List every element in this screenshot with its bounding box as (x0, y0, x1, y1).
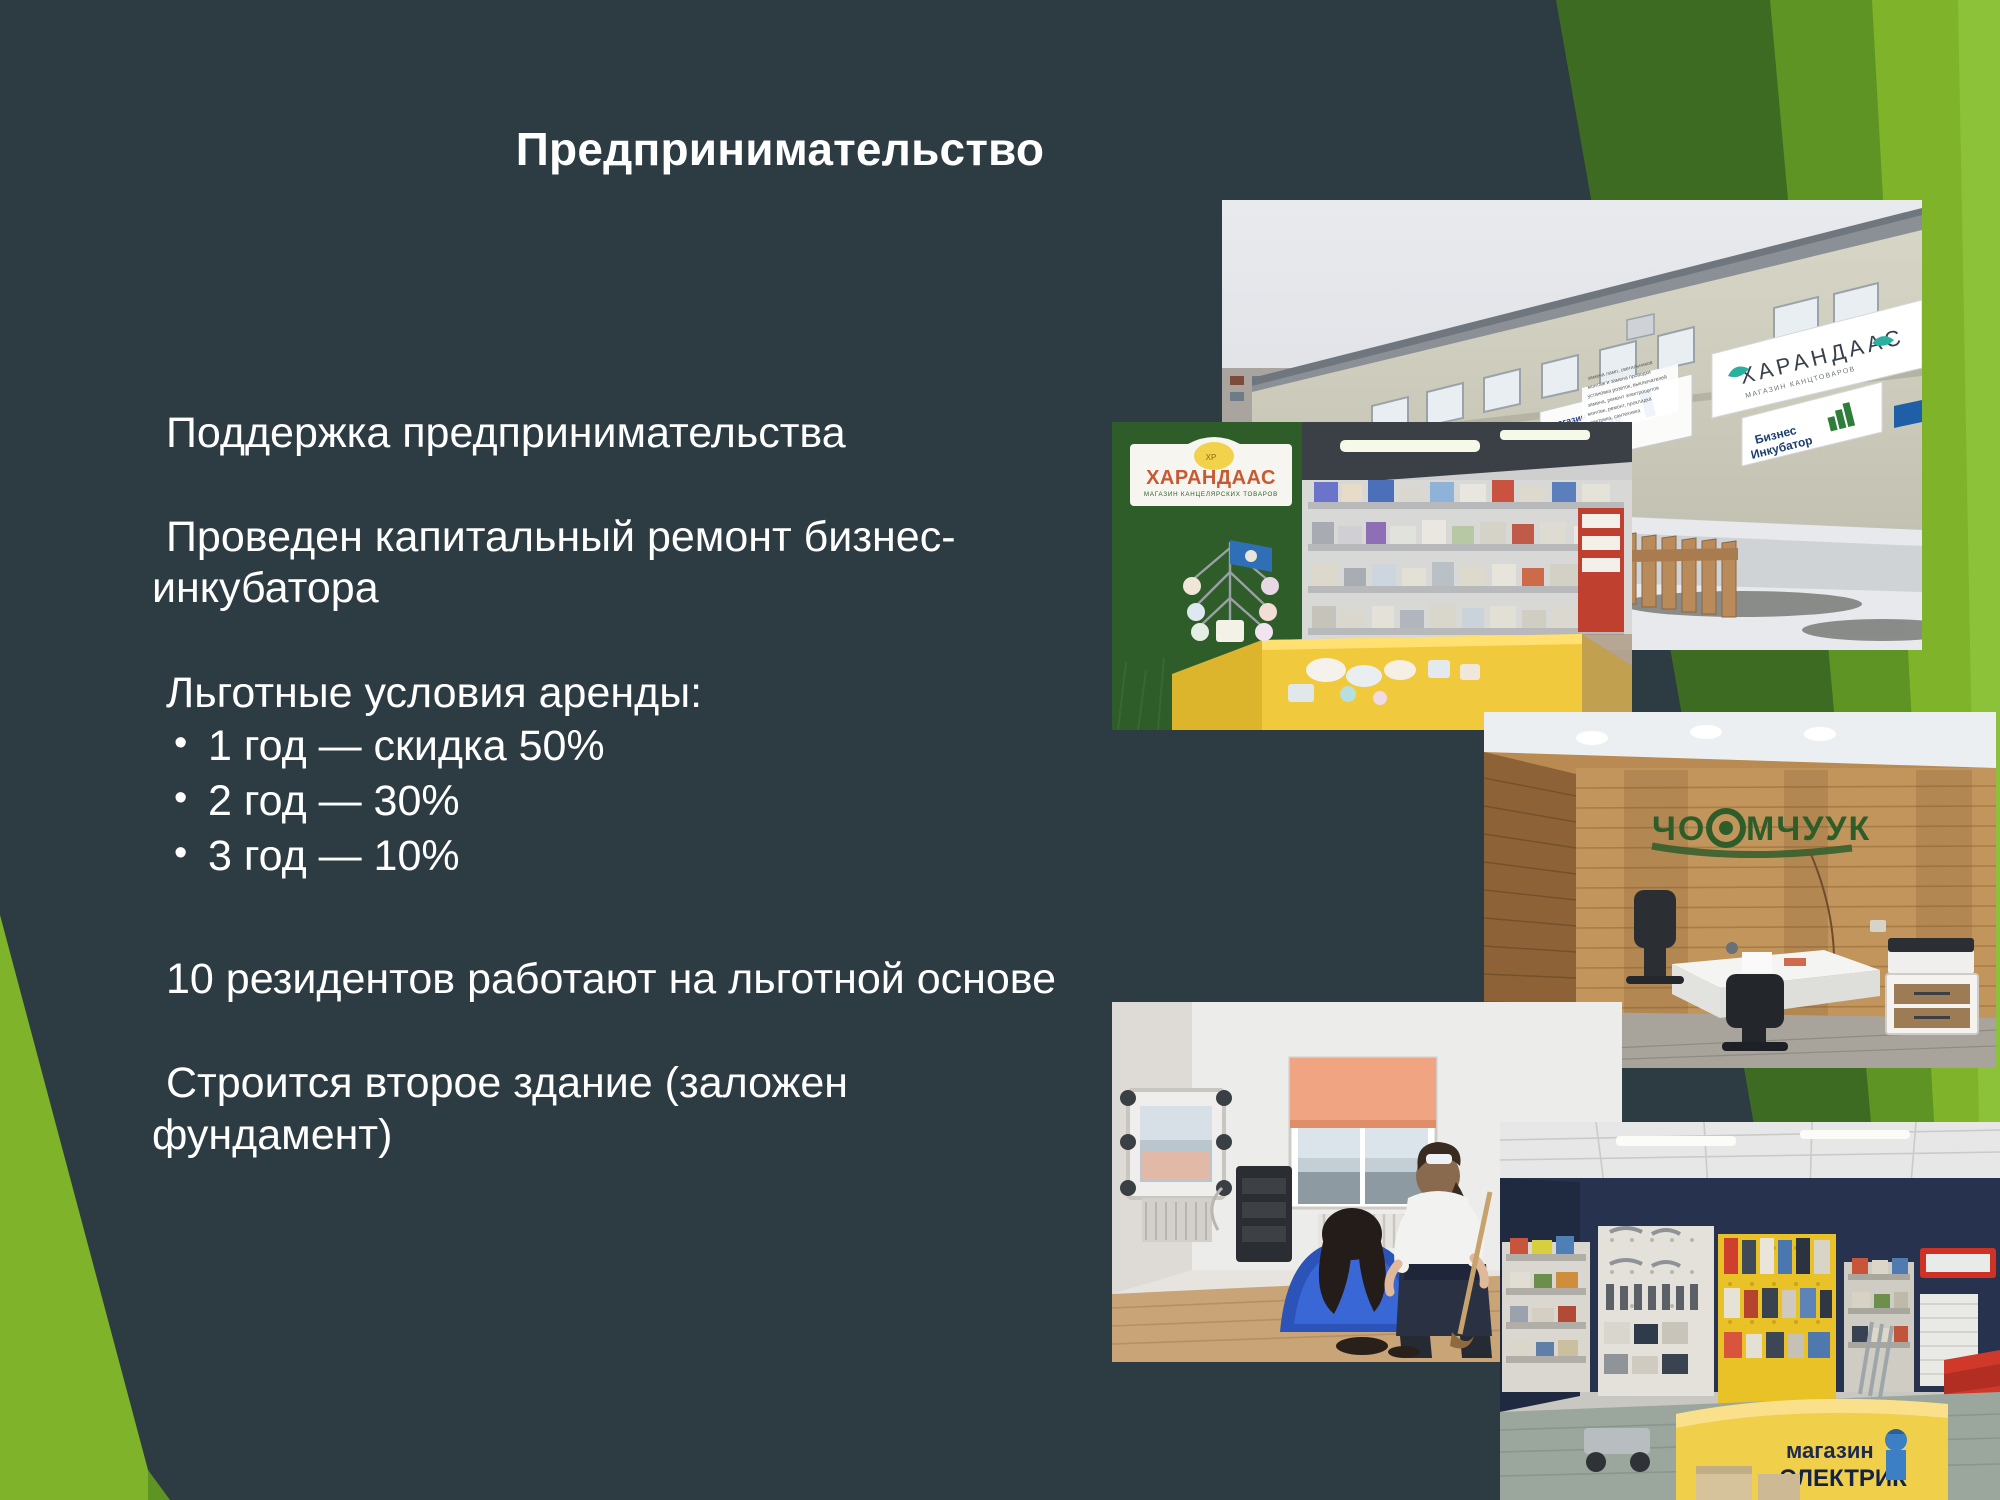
rent-terms-heading: Льготные условия аренды: (152, 667, 1082, 719)
photo-hardware-store: магазин ЭЛЕКТРИК (1500, 1122, 2000, 1500)
svg-text:XP: XP (1206, 453, 1217, 462)
svg-text:МАГАЗИН КАНЦЕЛЯРСКИХ ТОВАРОВ: МАГАЗИН КАНЦЕЛЯРСКИХ ТОВАРОВ (1144, 491, 1278, 498)
svg-text:ХАРАНДААС: ХАРАНДААС (1146, 467, 1276, 489)
rent-terms-list: • 1 год — скидка 50% • 2 год — 30% • 3 г… (152, 719, 1082, 884)
list-item: • 2 год — 30% (152, 774, 1082, 829)
svg-text:ЧО: ЧО (1652, 810, 1706, 848)
list-item: • 1 год — скидка 50% (152, 719, 1082, 774)
paragraph-support: Поддержка предпринимательства (152, 408, 1082, 460)
slide-title: Предпринимательство (0, 122, 1560, 176)
list-item-label: 1 год — скидка 50% (208, 722, 605, 770)
paragraph-renovation: Проведен капитальный ремонт бизнес-инкуб… (152, 512, 1082, 615)
svg-text:МЧУУК: МЧУУК (1746, 810, 1871, 848)
slide-body-text: Поддержка предпринимательства Проведен к… (152, 408, 1082, 1161)
bullet-icon: • (174, 772, 187, 825)
paragraph-residents: 10 резидентов работают на льготной основ… (152, 954, 1082, 1006)
bullet-icon: • (174, 717, 187, 770)
list-item-label: 3 год — 10% (208, 832, 460, 880)
list-item-label: 2 год — 30% (208, 777, 460, 825)
green-shape-left-bottom-edge (148, 1470, 170, 1500)
green-shape-left-bottom (0, 915, 156, 1500)
list-item: • 3 год — 10% (152, 829, 1082, 884)
photo-stationery-shop: XP ХАРАНДААС МАГАЗИН КАНЦЕЛЯРСКИХ ТОВАРО… (1112, 422, 1632, 730)
presentation-slide: Предпринимательство Поддержка предприним… (0, 0, 2000, 1500)
bullet-icon: • (174, 827, 187, 880)
paragraph-second-building: Строится второе здание (заложен фундамен… (152, 1058, 1082, 1161)
svg-text:магазин: магазин (1786, 1438, 1874, 1463)
